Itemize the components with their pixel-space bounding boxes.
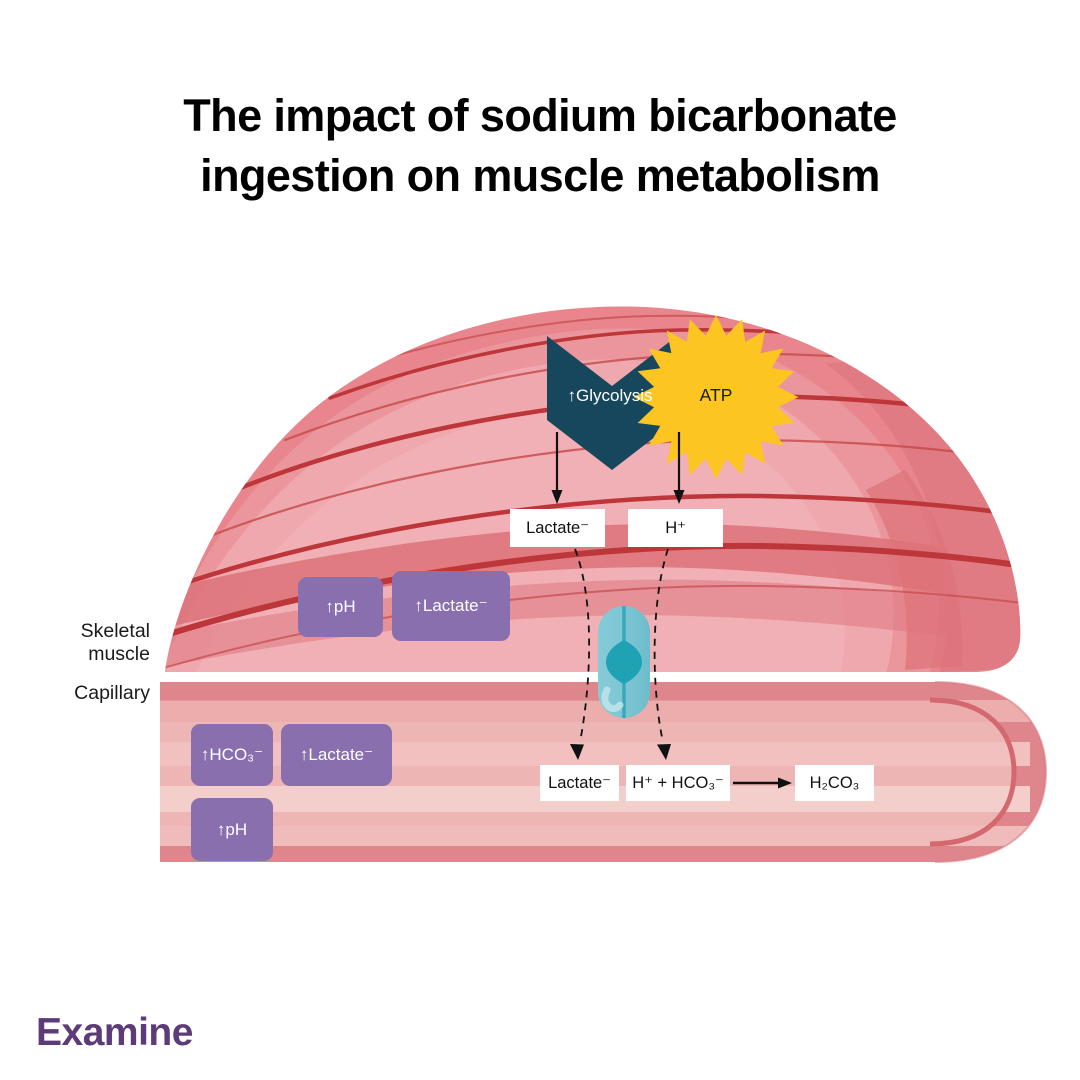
label-skeletal-muscle-line1: Skeletal (81, 620, 150, 642)
label-skeletal-muscle: Skeletal muscle (20, 620, 150, 666)
atp-burst-label: ATP (671, 385, 761, 406)
effect-box-muscle-ph: ↑pH (298, 577, 383, 637)
chem-box-capillary-h-hco3: H⁺ + HCO₃⁻ (626, 765, 730, 801)
chem-box-capillary-lactate: Lactate⁻ (540, 765, 619, 801)
label-capillary: Capillary (20, 682, 150, 705)
label-skeletal-muscle-line2: muscle (88, 643, 150, 665)
examine-logo[interactable]: Examine (36, 1013, 193, 1052)
infographic-canvas: The impact of sodium bicarbonate ingesti… (0, 0, 1080, 1080)
effect-box-capillary-ph: ↑pH (191, 798, 273, 861)
chem-box-muscle-hydrogen: H⁺ (628, 509, 723, 547)
effect-box-capillary-lactate: ↑Lactate⁻ (281, 724, 392, 786)
chem-box-muscle-lactate: Lactate⁻ (510, 509, 605, 547)
effect-box-capillary-hco3: ↑HCO₃⁻ (191, 724, 273, 786)
glycolysis-banner-label: ↑Glycolysis (540, 386, 680, 406)
chem-box-capillary-h2co3: H₂CO₃ (795, 765, 874, 801)
effect-box-muscle-lactate: ↑Lactate⁻ (392, 571, 510, 641)
membrane-transporter-icon (598, 606, 650, 718)
